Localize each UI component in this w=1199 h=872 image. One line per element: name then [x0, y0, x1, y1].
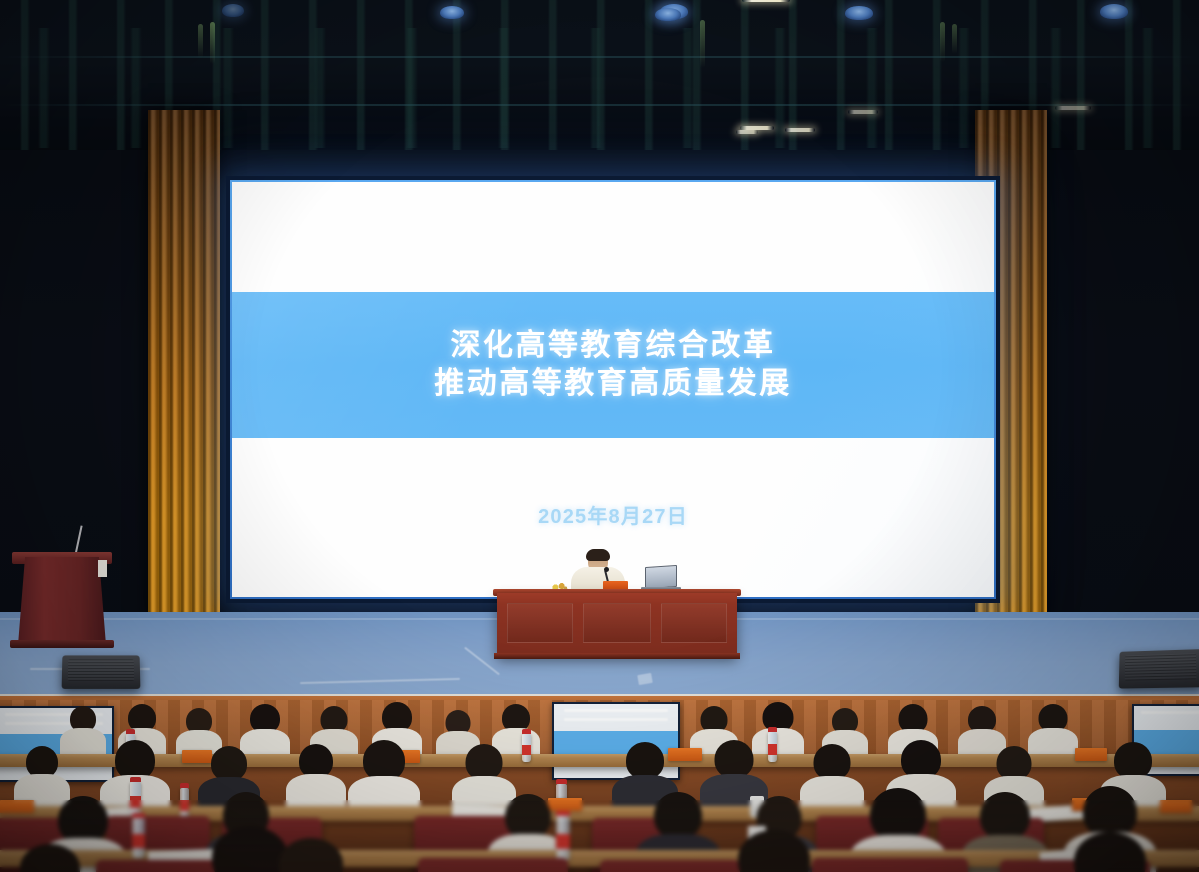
spotlight-icon [440, 6, 464, 19]
bottle-cap [130, 777, 141, 782]
podium-base [10, 640, 114, 648]
bottle-cap [132, 813, 145, 818]
person-head [211, 746, 247, 781]
person-head [20, 844, 80, 872]
audience-member-front [0, 844, 100, 872]
speaker-hair [586, 549, 610, 561]
bottle-label [130, 796, 141, 808]
audience-member [286, 744, 346, 810]
spotlight-icon [1100, 4, 1128, 19]
speaker-grill [68, 659, 134, 681]
bottle-cap [522, 729, 531, 734]
ceiling-strip-light [785, 128, 815, 132]
truss-glow [700, 20, 705, 68]
ceiling-strip-light [848, 110, 878, 114]
water-bottle [556, 816, 570, 860]
person-head [738, 830, 810, 872]
aux-slide-top [1134, 706, 1199, 730]
presentation-slide: 深化高等教育综合改革 推动高等教育高质量发展 2025年8月27日 [232, 182, 994, 597]
water-bottle [132, 818, 145, 858]
stage-floor-monitor-left [62, 655, 141, 688]
stage-curtain-left [148, 110, 220, 622]
slide-title-band: 深化高等教育综合改革 推动高等教育高质量发展 [232, 292, 994, 438]
bottle-cap [556, 811, 570, 816]
spotlight-icon [655, 8, 681, 21]
person-head [58, 796, 108, 844]
person-head [654, 792, 702, 839]
ceiling-strip-light [736, 130, 758, 134]
person-head [1083, 786, 1137, 838]
slide-top-margin [232, 182, 994, 292]
slide-title-line-1: 深化高等教育综合改革 [451, 327, 776, 365]
truss-glow [210, 22, 215, 64]
bottle-cap [768, 727, 777, 732]
water-bottle [768, 732, 777, 762]
slide-title-line-2: 推动高等教育高质量发展 [434, 365, 792, 403]
bottle-label [556, 834, 570, 849]
person-head [363, 740, 405, 781]
aux-slide-title-line [1141, 711, 1199, 714]
audience-member-front [1050, 832, 1170, 872]
audience-member [348, 740, 420, 814]
truss-glow [198, 24, 203, 58]
person-head [980, 792, 1030, 840]
ceiling-strip-light [1055, 106, 1091, 110]
ceiling-strip-light [742, 0, 790, 2]
person-head [814, 744, 851, 780]
person-head [715, 740, 754, 778]
table-panel [507, 603, 573, 643]
table-panel [661, 603, 727, 643]
aux-slide-title-line [564, 718, 668, 721]
aux-slide-title-line [564, 709, 668, 712]
person-head [1114, 742, 1152, 779]
audience-member-front [256, 838, 366, 872]
person-head [115, 740, 155, 780]
bottle-label [768, 744, 777, 754]
podium-nameplate [98, 560, 107, 577]
audience-area [0, 700, 1199, 872]
bottle-cap [180, 783, 189, 788]
person-head [466, 744, 503, 780]
bottle-label [180, 800, 189, 810]
projection-screen: 深化高等教育综合改革 推动高等教育高质量发展 2025年8月27日 [232, 182, 994, 597]
conference-hall-scene: 深化高等教育综合改革 推动高等教育高质量发展 2025年8月27日 [0, 0, 1199, 872]
truss-glow [940, 22, 945, 62]
table-microphone-head [604, 567, 609, 572]
person-head [997, 746, 1032, 780]
water-bottle [522, 734, 531, 762]
head-table-base [494, 653, 740, 659]
truss-glow [952, 24, 957, 54]
person-head [505, 794, 551, 839]
table-panel [583, 603, 651, 643]
person-head [626, 742, 664, 779]
laptop-screen [645, 565, 677, 589]
spotlight-icon [845, 6, 873, 20]
stage-floor-monitor-right [1119, 649, 1199, 688]
audience-chair-front [812, 858, 968, 872]
water-bottle [180, 788, 189, 818]
truss-rail [0, 104, 1199, 106]
slide-date: 2025年8月27日 [538, 500, 688, 529]
audience-chair-front [418, 858, 568, 872]
water-bottle [130, 782, 141, 816]
head-table [497, 593, 737, 656]
spotlight-icon [222, 4, 244, 17]
name-placard [1160, 800, 1192, 813]
bottle-label [522, 745, 531, 755]
truss-rail [0, 56, 1199, 58]
bottle-cap [126, 729, 135, 734]
person-head [299, 744, 333, 778]
person-head [1074, 832, 1146, 872]
bottle-cap [556, 779, 567, 784]
audience-member-front [714, 830, 834, 872]
speaker-grill [1125, 653, 1197, 680]
person-head [279, 838, 343, 872]
name-placard [0, 800, 34, 813]
podium [18, 557, 106, 645]
person-head [870, 788, 926, 841]
bottle-label [132, 834, 145, 848]
